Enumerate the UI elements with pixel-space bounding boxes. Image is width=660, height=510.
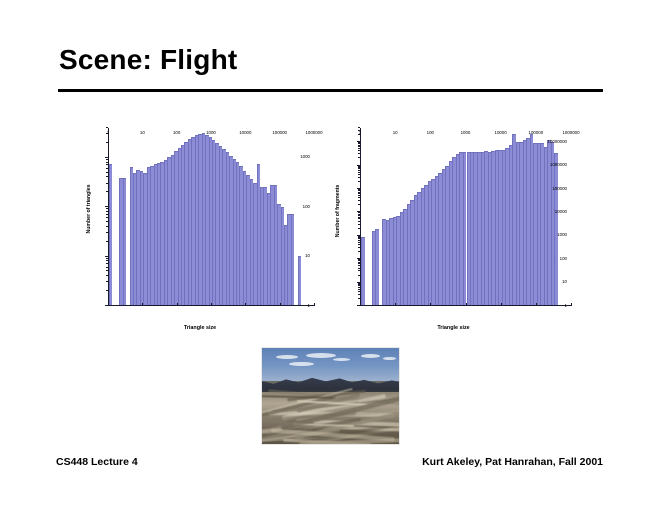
- y-axis-minor-tick: [358, 174, 360, 175]
- x-axis-minor-tick: [455, 305, 456, 307]
- image-cloud: [333, 358, 349, 361]
- y-axis-minor-tick: [358, 192, 360, 193]
- y-axis-minor-tick: [106, 241, 108, 242]
- y-axis-tick-label: 10: [305, 254, 310, 258]
- y-axis-minor-tick: [106, 191, 108, 192]
- x-axis-minor-tick: [560, 305, 561, 307]
- x-axis-minor-tick: [387, 305, 388, 307]
- y-axis-minor-tick: [358, 263, 360, 264]
- y-axis-minor-tick: [358, 127, 360, 128]
- y-axis-tick-label: 10000: [555, 210, 567, 214]
- y-axis-minor-tick: [358, 291, 360, 292]
- y-axis-minor-tick: [358, 236, 360, 237]
- x-axis-minor-tick: [124, 305, 125, 307]
- y-axis-tick: [105, 305, 108, 306]
- image-terrain-region: [262, 392, 399, 444]
- y-axis-minor-tick: [358, 212, 360, 213]
- image-cloud: [361, 354, 380, 358]
- y-axis-minor-tick: [358, 134, 360, 135]
- y-axis-minor-tick: [106, 232, 108, 233]
- y-axis-minor-tick: [358, 228, 360, 229]
- x-axis-minor-tick: [447, 305, 448, 307]
- image-cloud: [276, 355, 298, 359]
- y-axis-minor-tick: [106, 127, 108, 128]
- x-axis-tick: [536, 303, 537, 306]
- x-axis-title-left: Triangle size: [122, 325, 278, 331]
- y-axis-minor-tick: [358, 145, 360, 146]
- x-axis-tick: [314, 303, 315, 306]
- histogram-bar: [554, 153, 558, 305]
- y-axis-minor-tick: [106, 214, 108, 215]
- x-axis-tick: [360, 303, 361, 306]
- x-axis-minor-tick: [441, 305, 442, 307]
- x-axis-tick-label: 100000: [529, 131, 544, 135]
- histogram-bar: [291, 214, 294, 305]
- x-axis-minor-tick: [272, 305, 273, 307]
- y-axis-minor-tick: [106, 260, 108, 261]
- x-axis-minor-tick: [159, 305, 160, 307]
- x-axis-minor-tick: [304, 305, 305, 307]
- y-axis-tick: [357, 165, 360, 166]
- x-axis-minor-tick: [546, 305, 547, 307]
- x-axis-minor-tick: [557, 305, 558, 307]
- x-axis-minor-tick: [238, 305, 239, 307]
- y-axis-minor-tick: [358, 294, 360, 295]
- y-axis-minor-tick: [106, 183, 108, 184]
- y-axis-minor-tick: [106, 168, 108, 169]
- y-axis-minor-tick: [106, 211, 108, 212]
- x-axis-minor-tick: [290, 305, 291, 307]
- y-axis-minor-tick: [358, 142, 360, 143]
- y-axis-minor-tick: [358, 221, 360, 222]
- y-axis-minor-tick: [106, 208, 108, 209]
- y-axis-tick-label: 10: [562, 280, 567, 284]
- y-axis-minor-tick: [106, 258, 108, 259]
- x-axis-minor-tick: [420, 305, 421, 307]
- y-axis-minor-tick: [358, 157, 360, 158]
- x-axis-minor-tick: [517, 305, 518, 307]
- y-axis-minor-tick: [358, 200, 360, 201]
- y-axis-minor-tick: [358, 224, 360, 225]
- y-axis-minor-tick: [358, 195, 360, 196]
- chart-fragment-histogram: 1101001000100001000001000000110100100010…: [330, 122, 575, 332]
- y-axis-tick: [357, 141, 360, 142]
- y-axis-minor-tick: [358, 130, 360, 131]
- histogram-bar: [375, 229, 379, 305]
- x-axis-tick-label: 1000: [206, 131, 216, 135]
- y-axis-tick-label: 1000: [300, 156, 310, 160]
- x-axis-minor-tick: [490, 305, 491, 307]
- x-axis-tick-label: 1000000: [562, 131, 579, 135]
- y-axis-minor-tick: [358, 204, 360, 205]
- x-axis-minor-tick: [482, 305, 483, 307]
- x-axis-tick-label: 10000: [239, 131, 251, 135]
- y-axis-title-right: Number of fragments: [335, 176, 341, 246]
- plot-area-right: 1101001000100001000001000000110100100010…: [360, 128, 571, 306]
- y-axis-minor-tick: [358, 167, 360, 168]
- scene-screenshot-image: [261, 347, 400, 445]
- y-axis-minor-tick: [358, 285, 360, 286]
- y-axis-minor-tick: [358, 265, 360, 266]
- y-axis-minor-tick: [358, 247, 360, 248]
- x-axis-minor-tick: [187, 305, 188, 307]
- y-axis-minor-tick: [358, 217, 360, 218]
- x-axis-minor-tick: [300, 305, 301, 307]
- histogram-bar: [298, 256, 301, 305]
- x-axis-minor-tick: [169, 305, 170, 307]
- y-axis-minor-tick: [358, 268, 360, 269]
- y-axis-minor-tick: [106, 270, 108, 271]
- x-axis-minor-tick: [530, 305, 531, 307]
- histogram-bar: [123, 178, 126, 305]
- y-axis-minor-tick: [106, 226, 108, 227]
- x-axis-tick: [430, 303, 431, 306]
- y-axis-tick-label: 1: [308, 304, 310, 308]
- y-axis-minor-tick: [358, 259, 360, 260]
- y-axis-minor-tick: [358, 177, 360, 178]
- y-axis-line-left: [108, 128, 109, 306]
- y-axis-tick: [105, 256, 108, 257]
- y-axis-minor-tick: [106, 159, 108, 160]
- y-axis-tick: [357, 235, 360, 236]
- x-axis-tick: [395, 303, 396, 306]
- x-axis-minor-tick: [511, 305, 512, 307]
- y-axis-minor-tick: [106, 263, 108, 264]
- x-axis-minor-tick: [274, 305, 275, 307]
- x-axis-tick: [245, 303, 246, 306]
- y-axis-minor-tick: [358, 218, 360, 219]
- y-axis-minor-tick: [106, 290, 108, 291]
- x-axis-minor-tick: [193, 305, 194, 307]
- plot-area-left: 11010010001000010000010000001101001000: [108, 128, 314, 306]
- title-divider: [58, 89, 603, 92]
- x-axis-tick: [142, 303, 143, 306]
- x-axis-minor-tick: [221, 305, 222, 307]
- y-axis-tick-label: 1000: [557, 234, 567, 238]
- y-axis-minor-tick: [358, 172, 360, 173]
- x-axis-minor-tick: [163, 305, 164, 307]
- y-axis-minor-tick: [106, 162, 108, 163]
- y-axis-minor-tick: [358, 287, 360, 288]
- x-axis-minor-tick: [495, 305, 496, 307]
- chart-triangle-size-histogram: 11010010001000010000010000001101001000 T…: [78, 122, 318, 332]
- x-axis-minor-tick: [522, 305, 523, 307]
- x-axis-tick-label: 100000: [272, 131, 287, 135]
- x-axis-minor-tick: [269, 305, 270, 307]
- x-axis-minor-tick: [371, 305, 372, 307]
- x-axis-minor-tick: [476, 305, 477, 307]
- y-axis-minor-tick: [358, 275, 360, 276]
- y-axis-minor-tick: [106, 221, 108, 222]
- x-axis-minor-tick: [266, 305, 267, 307]
- y-axis-minor-tick: [358, 244, 360, 245]
- x-axis-minor-tick: [240, 305, 241, 307]
- x-axis-tick-label: 10000: [495, 131, 507, 135]
- y-axis-minor-tick: [358, 238, 360, 239]
- x-axis-minor-tick: [256, 305, 257, 307]
- x-axis-minor-tick: [412, 305, 413, 307]
- y-axis-minor-tick: [358, 170, 360, 171]
- y-axis-tick-label: 100: [560, 257, 567, 261]
- x-axis-minor-tick: [227, 305, 228, 307]
- slide-canvas: Scene: Flight 11010010001000010000010000…: [0, 0, 660, 510]
- x-axis-minor-tick: [203, 305, 204, 307]
- y-axis-minor-tick: [106, 142, 108, 143]
- x-axis-tick: [108, 303, 109, 306]
- y-axis-minor-tick: [358, 148, 360, 149]
- y-axis-minor-tick: [358, 214, 360, 215]
- y-axis-minor-tick: [358, 197, 360, 198]
- x-axis-minor-tick: [135, 305, 136, 307]
- x-axis-minor-tick: [377, 305, 378, 307]
- y-axis-tick: [357, 211, 360, 212]
- x-axis-tick: [571, 303, 572, 306]
- y-axis-tick: [105, 157, 108, 158]
- y-axis-minor-tick: [358, 240, 360, 241]
- y-axis-minor-tick: [358, 181, 360, 182]
- x-axis-tick-label: 100: [173, 131, 180, 135]
- x-axis-minor-tick: [493, 305, 494, 307]
- x-axis-minor-tick: [423, 305, 424, 307]
- x-axis-minor-tick: [137, 305, 138, 307]
- y-axis-minor-tick: [358, 146, 360, 147]
- y-axis-minor-tick: [358, 150, 360, 151]
- x-axis-minor-tick: [197, 305, 198, 307]
- x-axis-minor-tick: [171, 305, 172, 307]
- y-axis-minor-tick: [358, 284, 360, 285]
- y-axis-minor-tick: [106, 217, 108, 218]
- x-axis-tick: [280, 303, 281, 306]
- x-axis-tick-label: 10: [393, 131, 398, 135]
- x-axis-minor-tick: [425, 305, 426, 307]
- y-axis-minor-tick: [358, 251, 360, 252]
- x-axis-minor-tick: [460, 305, 461, 307]
- y-axis-tick: [357, 258, 360, 259]
- x-axis-minor-tick: [385, 305, 386, 307]
- y-axis-tick: [357, 282, 360, 283]
- x-axis-minor-tick: [416, 305, 417, 307]
- y-axis-title-left: Number of triangles: [86, 174, 92, 244]
- y-axis-tick: [105, 206, 108, 207]
- x-axis-tick: [501, 303, 502, 306]
- x-axis-minor-tick: [528, 305, 529, 307]
- y-axis-minor-tick: [106, 172, 108, 173]
- y-axis-minor-tick: [358, 262, 360, 263]
- x-axis-minor-tick: [406, 305, 407, 307]
- y-axis-minor-tick: [106, 133, 108, 134]
- x-axis-minor-tick: [381, 305, 382, 307]
- x-axis-minor-tick: [553, 305, 554, 307]
- image-cloud: [289, 362, 314, 366]
- x-axis-tick-label: 10: [140, 131, 145, 135]
- image-cloud: [306, 353, 336, 358]
- y-axis-minor-tick: [358, 189, 360, 190]
- footer-authors-label: Kurt Akeley, Pat Hanrahan, Fall 2001: [422, 456, 603, 468]
- x-axis-tick: [177, 303, 178, 306]
- x-axis-tick-label: 1000000: [305, 131, 322, 135]
- y-axis-minor-tick: [358, 168, 360, 169]
- y-axis-minor-tick: [358, 260, 360, 261]
- bars-left: [109, 128, 314, 305]
- y-axis-minor-tick: [358, 153, 360, 154]
- x-axis-minor-tick: [118, 305, 119, 307]
- x-axis-tick-label: 100: [427, 131, 434, 135]
- x-axis-minor-tick: [129, 305, 130, 307]
- x-axis-tick-label: 1000: [461, 131, 471, 135]
- bars-right: [361, 128, 571, 305]
- x-axis-minor-tick: [296, 305, 297, 307]
- x-axis-minor-tick: [232, 305, 233, 307]
- x-axis-tick: [211, 303, 212, 306]
- y-axis-line-right: [360, 128, 361, 306]
- y-axis-minor-tick: [358, 143, 360, 144]
- y-axis-minor-tick: [106, 164, 108, 165]
- histogram-bar: [361, 237, 365, 305]
- x-axis-minor-tick: [153, 305, 154, 307]
- y-axis-minor-tick: [358, 270, 360, 271]
- y-axis-minor-tick: [358, 298, 360, 299]
- y-axis-minor-tick: [358, 190, 360, 191]
- x-axis-minor-tick: [390, 305, 391, 307]
- y-axis-minor-tick: [106, 275, 108, 276]
- y-axis-minor-tick: [358, 242, 360, 243]
- x-axis-minor-tick: [166, 305, 167, 307]
- y-axis-minor-tick: [106, 267, 108, 268]
- y-axis-tick-label: 100000: [552, 187, 567, 191]
- x-axis-title-right: Triangle size: [376, 325, 531, 331]
- y-axis-tick: [357, 305, 360, 306]
- y-axis-tick-label: 100: [303, 205, 310, 209]
- y-axis-tick-label: 1: [565, 304, 567, 308]
- x-axis-minor-tick: [132, 305, 133, 307]
- x-axis-minor-tick: [262, 305, 263, 307]
- y-axis-tick-label: 1000000: [550, 163, 567, 167]
- histogram-bar: [109, 164, 112, 305]
- image-sky-region: [262, 348, 399, 381]
- x-axis-minor-tick: [235, 305, 236, 307]
- x-axis-minor-tick: [201, 305, 202, 307]
- y-axis-minor-tick: [358, 237, 360, 238]
- y-axis-tick: [357, 188, 360, 189]
- y-axis-minor-tick: [106, 176, 108, 177]
- x-axis-minor-tick: [458, 305, 459, 307]
- page-title: Scene: Flight: [59, 44, 237, 76]
- x-axis-tick: [466, 303, 467, 306]
- y-axis-minor-tick: [358, 215, 360, 216]
- x-axis-minor-tick: [525, 305, 526, 307]
- y-axis-minor-tick: [106, 281, 108, 282]
- x-axis-minor-tick: [452, 305, 453, 307]
- y-axis-minor-tick: [358, 283, 360, 284]
- x-axis-minor-tick: [487, 305, 488, 307]
- image-cloud: [383, 357, 397, 360]
- footer-lecture-label: CS448 Lecture 4: [56, 456, 138, 468]
- y-axis-minor-tick: [358, 289, 360, 290]
- y-axis-tick-label: 10000000: [547, 140, 567, 144]
- y-axis-minor-tick: [358, 193, 360, 194]
- y-axis-minor-tick: [358, 166, 360, 167]
- x-axis-minor-tick: [206, 305, 207, 307]
